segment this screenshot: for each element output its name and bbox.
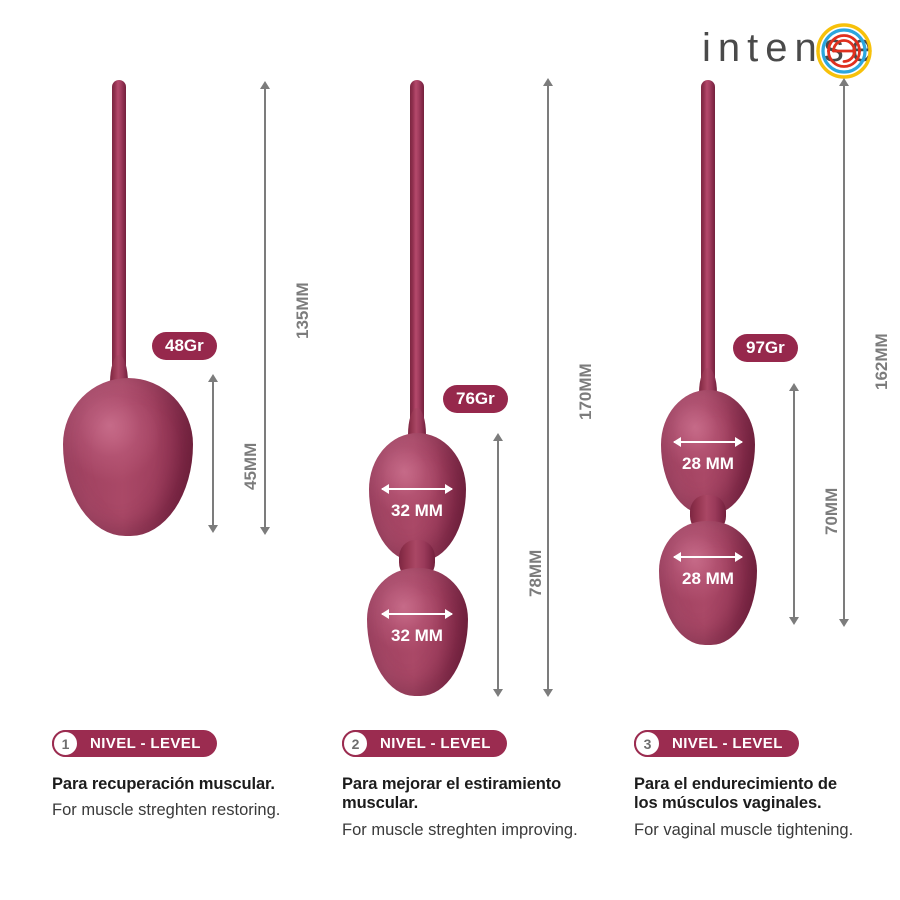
caption-en-1: For muscle streghten restoring. xyxy=(52,801,317,820)
weight-badge-1: 48Gr xyxy=(152,332,217,360)
ball-height-arrow-3 xyxy=(793,390,795,618)
ball-height-label-3: 70MM xyxy=(819,488,845,535)
ball-height-label-2: 78MM xyxy=(523,550,549,597)
caption-en-2: For muscle streghten improving. xyxy=(342,821,607,840)
total-length-arrow-2 xyxy=(547,85,549,690)
caption-en-3: For vaginal muscle tightening. xyxy=(634,821,864,840)
concentric-arcs-e-logo-icon xyxy=(813,20,875,82)
ball-height-arrow-1 xyxy=(212,381,214,526)
width-arrow-lower-2 xyxy=(382,613,452,615)
brand-logo: intense xyxy=(702,18,880,78)
caption-level-3: NIVEL - LEVEL 3 Para el endurecimiento d… xyxy=(634,730,864,840)
weighted-ball xyxy=(63,378,193,536)
total-length-label-1: 135MM xyxy=(290,282,316,339)
retrieval-cord xyxy=(701,80,715,390)
width-arrow-upper-2 xyxy=(382,488,452,490)
caption-level-1: NIVEL - LEVEL 1 Para recuperación muscul… xyxy=(52,730,317,821)
total-length-label-2: 170MM xyxy=(573,363,599,420)
level-number-2: 2 xyxy=(342,730,369,757)
total-length-arrow-3 xyxy=(843,85,845,620)
level-number-1: 1 xyxy=(52,730,79,757)
total-length-arrow-1 xyxy=(264,88,266,528)
total-length-label-3: 162MM xyxy=(869,333,895,390)
caption-level-2: NIVEL - LEVEL 2 Para mejorar el estirami… xyxy=(342,730,607,840)
caption-es-2: Para mejorar el estiramiento muscular. xyxy=(342,775,607,814)
ball-height-label-1: 45MM xyxy=(238,443,264,490)
weight-badge-2: 76Gr xyxy=(443,385,508,413)
width-label-upper-3: 28 MM xyxy=(668,454,748,474)
ball-height-arrow-2 xyxy=(497,440,499,690)
width-label-lower-2: 32 MM xyxy=(377,626,457,646)
width-arrow-lower-3 xyxy=(674,556,742,558)
level-number-3: 3 xyxy=(634,730,661,757)
caption-es-3: Para el endurecimiento de los músculos v… xyxy=(634,775,864,814)
width-label-lower-3: 28 MM xyxy=(668,569,748,589)
width-arrow-upper-3 xyxy=(674,441,742,443)
caption-es-1: Para recuperación muscular. xyxy=(52,775,317,794)
retrieval-cord xyxy=(112,80,126,380)
width-label-upper-2: 32 MM xyxy=(377,501,457,521)
retrieval-cord xyxy=(410,80,424,430)
weight-badge-3: 97Gr xyxy=(733,334,798,362)
